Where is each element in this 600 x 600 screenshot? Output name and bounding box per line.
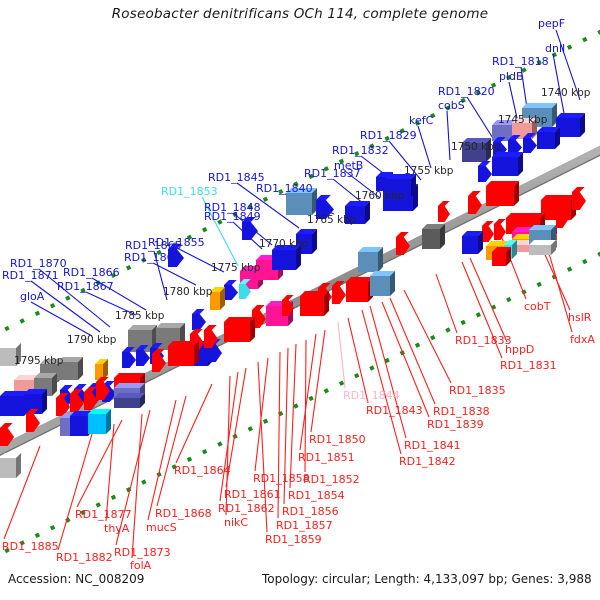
gene-body[interactable] bbox=[492, 252, 506, 266]
gene-body[interactable] bbox=[224, 322, 250, 342]
gene-body[interactable] bbox=[492, 157, 518, 176]
gene-body[interactable] bbox=[346, 282, 368, 302]
gene-feature-fwd-44[interactable] bbox=[192, 309, 206, 330]
gene-feature-rev-42[interactable] bbox=[88, 409, 111, 434]
gene-top-face bbox=[114, 373, 145, 378]
gene-label-rd1-1871[interactable]: RD1_1871 bbox=[2, 270, 59, 281]
gene-top-face bbox=[396, 232, 409, 237]
gene-body[interactable] bbox=[168, 346, 194, 366]
gene-feature-fwd-22[interactable] bbox=[224, 280, 238, 300]
gene-label-nikc[interactable]: nikC bbox=[224, 517, 248, 528]
gene-label-rd1-1840[interactable]: RD1_1840 bbox=[256, 183, 313, 194]
axis-tick-1745: 1745 kbp bbox=[498, 115, 547, 126]
gene-label-gloa[interactable]: gloA bbox=[20, 291, 44, 302]
gene-top-face bbox=[224, 317, 255, 322]
axis-tick-1795: 1795 kbp bbox=[14, 356, 63, 367]
axis-tick-1750: 1750 kbp bbox=[451, 142, 500, 153]
gene-label-rd1-1843[interactable]: RD1_1843 bbox=[366, 405, 423, 416]
gene-arrow[interactable] bbox=[523, 138, 537, 153]
gene-top-face bbox=[494, 219, 506, 224]
gene-label-rd1-1850[interactable]: RD1_1850 bbox=[309, 434, 366, 445]
gene-top-face bbox=[168, 341, 199, 346]
leader-line-rev-16 bbox=[290, 344, 296, 488]
gene-label-rd1-1854[interactable]: RD1_1854 bbox=[288, 490, 345, 501]
leader-line-fwd-6 bbox=[418, 126, 431, 168]
status-bar: Accession: NC_008209 Topology: circular;… bbox=[0, 572, 600, 594]
gene-label-thya[interactable]: thyA bbox=[104, 523, 129, 534]
gene-feature-rev-11[interactable] bbox=[462, 231, 483, 254]
gene-label-rd1-1852[interactable]: RD1_1852 bbox=[303, 474, 360, 485]
gene-feature-rev-46[interactable] bbox=[438, 201, 450, 222]
gene-label-kefc[interactable]: kefC bbox=[409, 115, 433, 126]
axis-tick-1785: 1785 kbp bbox=[115, 311, 164, 322]
gene-top-face bbox=[190, 329, 203, 334]
gene-feature-rev-23[interactable] bbox=[370, 271, 395, 296]
gene-label-rd1-1841[interactable]: RD1_1841 bbox=[404, 440, 461, 451]
gene-label-rd1-1857[interactable]: RD1_1857 bbox=[276, 520, 333, 531]
gene-label-rd1-1853[interactable]: RD1_1853 bbox=[161, 186, 218, 197]
leader-line-rev-31 bbox=[58, 434, 92, 550]
axis-tick-1770: 1770 kbp bbox=[259, 239, 308, 250]
gene-body[interactable] bbox=[0, 396, 24, 416]
gene-label-rd1-1845[interactable]: RD1_1845 bbox=[208, 172, 265, 183]
gene-body[interactable] bbox=[114, 398, 140, 408]
axis-tick-1755: 1755 kbp bbox=[404, 166, 453, 177]
leader-line-rev-12 bbox=[338, 322, 345, 388]
gene-label-rd1-1866[interactable]: RD1_1866 bbox=[63, 267, 120, 278]
leader-line-rev-6 bbox=[404, 290, 451, 383]
gene-top-face bbox=[204, 325, 217, 330]
leader-line-fwd-5 bbox=[447, 111, 450, 160]
gene-top-face bbox=[192, 309, 205, 314]
gene-label-rd1-1870[interactable]: RD1_1870 bbox=[10, 258, 67, 269]
axis-tick-1780: 1780 kbp bbox=[163, 287, 212, 298]
leader-line-fwd-4 bbox=[467, 97, 496, 143]
gene-body[interactable] bbox=[60, 418, 70, 436]
gene-top-face bbox=[486, 181, 519, 186]
gene-label-rd1-1829[interactable]: RD1_1829 bbox=[360, 130, 417, 141]
axis-tick-1765: 1765 kbp bbox=[307, 215, 356, 226]
gene-arrow[interactable] bbox=[494, 224, 506, 240]
axis-tick-1740: 1740 kbp bbox=[541, 88, 590, 99]
gene-top-face bbox=[468, 191, 481, 196]
gene-body[interactable] bbox=[370, 276, 390, 296]
gene-body[interactable] bbox=[486, 186, 514, 206]
gene-arrow[interactable] bbox=[478, 166, 492, 182]
gene-label-pldb[interactable]: pldB bbox=[499, 71, 524, 82]
leader-line-rev-13 bbox=[311, 330, 325, 432]
gene-feature-rev-21[interactable] bbox=[332, 281, 346, 304]
gene-top-face bbox=[572, 187, 585, 192]
accession-text: Accession: NC_008209 bbox=[8, 572, 144, 586]
gene-top-face bbox=[556, 113, 585, 118]
gene-body[interactable] bbox=[537, 132, 555, 149]
gene-top-face bbox=[114, 393, 145, 398]
gene-label-rd1-1851[interactable]: RD1_1851 bbox=[298, 452, 355, 463]
gene-top-face bbox=[224, 280, 237, 285]
gene-feature-rev-5[interactable] bbox=[494, 219, 506, 240]
gene-label-rd1-1882[interactable]: RD1_1882 bbox=[56, 552, 113, 563]
gene-top-face bbox=[282, 295, 294, 300]
gene-feature-rev-34[interactable] bbox=[114, 393, 145, 408]
gene-feature-rev-12[interactable] bbox=[492, 247, 511, 266]
gene-label-rd1-1818[interactable]: RD1_1818 bbox=[492, 56, 549, 67]
gene-label-rd1-1873[interactable]: RD1_1873 bbox=[114, 547, 171, 558]
gene-feature-rev-16[interactable] bbox=[486, 181, 519, 206]
gene-body[interactable] bbox=[358, 252, 378, 272]
gene-arrow[interactable] bbox=[242, 222, 258, 240]
gene-feature-rev-22[interactable] bbox=[346, 277, 373, 302]
gene-body[interactable] bbox=[462, 236, 478, 254]
gene-feature-rev-30[interactable] bbox=[168, 341, 199, 366]
gene-label-fdxa[interactable]: fdxA bbox=[570, 334, 595, 345]
gene-label-rd1-1838[interactable]: RD1_1838 bbox=[433, 406, 490, 417]
gene-label-cobt[interactable]: cobT bbox=[524, 301, 550, 312]
gene-top-face bbox=[438, 201, 450, 206]
axis-tick-1775: 1775 kbp bbox=[211, 263, 260, 274]
gene-feature-fwd-9[interactable] bbox=[492, 152, 523, 176]
gene-body[interactable] bbox=[272, 250, 296, 270]
gene-arrow[interactable] bbox=[482, 226, 494, 242]
gene-feature-fwd-37[interactable] bbox=[95, 359, 108, 380]
gene-label-rd1-1861[interactable]: RD1_1861 bbox=[224, 489, 281, 500]
gene-body[interactable] bbox=[300, 296, 324, 316]
gene-top-face bbox=[300, 291, 329, 296]
gene-label-rd1-1877[interactable]: RD1_1877 bbox=[75, 509, 132, 520]
gene-label-rd1-1844[interactable]: RD1_1844 bbox=[343, 390, 400, 401]
gene-arrow[interactable] bbox=[136, 350, 150, 366]
gene-body[interactable] bbox=[286, 193, 312, 215]
gene-top-face bbox=[541, 195, 576, 200]
gene-top-face bbox=[60, 385, 73, 390]
gene-label-rd1-1837[interactable]: RD1_1837 bbox=[304, 168, 361, 179]
gene-body[interactable] bbox=[529, 245, 551, 255]
axis-tick-1760: 1760 kbp bbox=[355, 191, 404, 202]
gene-arrow[interactable] bbox=[572, 192, 586, 210]
leader-line-rev-10 bbox=[362, 310, 401, 454]
topology-text: Topology: circular; Length: 4,133,097 bp… bbox=[262, 572, 592, 586]
gene-label-rd1-1832[interactable]: RD1_1832 bbox=[332, 145, 389, 156]
leader-line-rev-26 bbox=[148, 400, 176, 520]
gene-arrow[interactable] bbox=[396, 237, 410, 255]
gene-top-face bbox=[156, 323, 185, 328]
gene-label-rd1-1833[interactable]: RD1_1833 bbox=[455, 335, 512, 346]
gene-top-face bbox=[114, 383, 145, 388]
gene-label-mucs[interactable]: mucS bbox=[146, 522, 177, 533]
gene-label-cobs[interactable]: cobS bbox=[438, 100, 465, 111]
gene-label-rd1-1842[interactable]: RD1_1842 bbox=[399, 456, 456, 467]
leader-line-rev-9 bbox=[370, 306, 406, 438]
leader-line-rev-30 bbox=[106, 424, 114, 521]
gene-label-rd1-1858[interactable]: RD1_1858 bbox=[253, 473, 310, 484]
gene-label-rd1-1859[interactable]: RD1_1859 bbox=[265, 534, 322, 545]
gene-feature-rev-27[interactable] bbox=[224, 317, 255, 342]
gene-feature-rev-4[interactable] bbox=[482, 221, 494, 242]
reverse-strand-features[interactable] bbox=[0, 181, 586, 478]
gene-feature-rev-24[interactable] bbox=[300, 291, 329, 316]
gene-label-dnli[interactable]: dnlI bbox=[545, 43, 565, 54]
gene-label-rd1-1849[interactable]: RD1_1849 bbox=[204, 211, 261, 222]
gene-top-face bbox=[506, 213, 545, 218]
gene-arrow[interactable] bbox=[332, 286, 346, 304]
leader-line-rev-3 bbox=[470, 258, 507, 342]
gene-feature-fwd-1[interactable] bbox=[556, 113, 585, 137]
gene-feature-rev-45[interactable] bbox=[0, 453, 21, 478]
gene-body[interactable] bbox=[70, 416, 88, 436]
gene-feature-fwd-10[interactable] bbox=[478, 161, 492, 182]
genome-map-viewer: Roseobacter denitrificans OCh 114, compl… bbox=[0, 0, 600, 600]
leader-line-rev-28 bbox=[132, 414, 142, 558]
gene-feature-rev-17[interactable] bbox=[422, 224, 445, 249]
gene-top-face bbox=[482, 221, 494, 226]
gene-arrow[interactable] bbox=[224, 285, 238, 300]
gene-body[interactable] bbox=[88, 414, 106, 434]
gene-label-rd1-1862[interactable]: RD1_1862 bbox=[218, 503, 275, 514]
gene-label-rd1-1831[interactable]: RD1_1831 bbox=[500, 360, 557, 371]
gene-body[interactable] bbox=[422, 229, 440, 249]
gene-label-rd1-1864[interactable]: RD1_1864 bbox=[174, 465, 231, 476]
gene-label-fola[interactable]: folA bbox=[130, 560, 151, 571]
gene-feature-rev-19[interactable] bbox=[358, 247, 383, 272]
gene-feature-fwd-7[interactable] bbox=[537, 127, 560, 149]
gene-top-face bbox=[252, 305, 265, 310]
gene-label-rd1-1868[interactable]: RD1_1868 bbox=[155, 508, 212, 519]
gene-top-face bbox=[316, 195, 331, 200]
gene-feature-rev-14[interactable] bbox=[529, 240, 556, 255]
gene-label-rd1-1839[interactable]: RD1_1839 bbox=[427, 419, 484, 430]
gene-label-rd1-1856[interactable]: RD1_1856 bbox=[282, 506, 339, 517]
gene-label-rd1-1835[interactable]: RD1_1835 bbox=[449, 385, 506, 396]
gene-top-face bbox=[522, 103, 557, 108]
gene-arrow[interactable] bbox=[122, 352, 136, 368]
gene-top-face bbox=[0, 423, 13, 428]
gene-label-rd1-1867[interactable]: RD1_1867 bbox=[57, 281, 114, 292]
gene-feature-rev-1[interactable] bbox=[572, 187, 586, 210]
gene-arrow[interactable] bbox=[438, 206, 450, 222]
gene-label-rd1-1865[interactable]: RD1_1865 bbox=[125, 240, 182, 251]
gene-top-face bbox=[128, 325, 157, 330]
axis-tick-1790: 1790 kbp bbox=[67, 335, 116, 346]
gene-body[interactable] bbox=[0, 458, 16, 478]
gene-label-rd1-1860[interactable]: RD1_1860 bbox=[124, 252, 181, 263]
gene-top-face bbox=[74, 384, 87, 389]
leader-line-rev-19 bbox=[255, 358, 268, 471]
gene-label-rd1-1820[interactable]: RD1_1820 bbox=[438, 86, 495, 97]
gene-label-pepf[interactable]: pepF bbox=[538, 18, 565, 29]
gene-label-rd1-1885[interactable]: RD1_1885 bbox=[2, 541, 59, 552]
gene-arrow[interactable] bbox=[192, 314, 206, 330]
leader-line-rev-5 bbox=[436, 274, 457, 333]
gene-label-hslr[interactable]: hslR bbox=[568, 312, 591, 323]
